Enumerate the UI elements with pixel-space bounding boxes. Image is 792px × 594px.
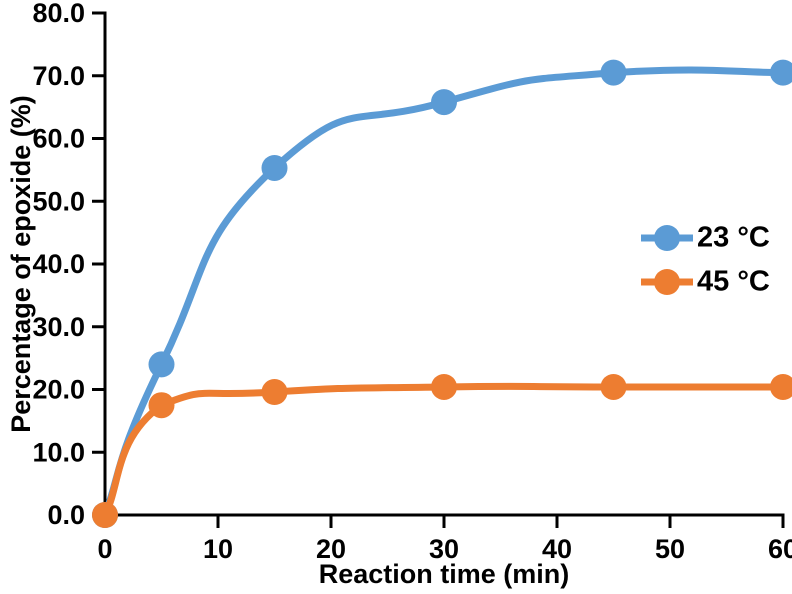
chart-figure: 0.010.020.030.040.050.060.070.080.0 Perc… [0, 0, 792, 594]
y-tick-label: 50.0 [32, 186, 85, 216]
data-point [431, 89, 457, 115]
data-point [149, 392, 175, 418]
y-tick-label: 0.0 [47, 500, 85, 530]
y-tick-label: 10.0 [32, 437, 85, 467]
y-tick-label: 40.0 [32, 249, 85, 279]
data-point [431, 374, 457, 400]
legend-label: 45 °C [697, 266, 770, 298]
legend-label: 23 °C [697, 222, 770, 254]
x-axis-title: Reaction time (min) [319, 559, 570, 589]
legend-marker [654, 225, 680, 251]
data-point [262, 155, 288, 181]
x-tick-label: 0 [97, 534, 112, 564]
y-tick-label: 60.0 [32, 124, 85, 154]
data-point [92, 502, 118, 528]
legend-marker [654, 269, 680, 295]
data-point [262, 379, 288, 405]
chart-canvas: 0.010.020.030.040.050.060.070.080.0 Perc… [0, 0, 792, 594]
data-point [149, 351, 175, 377]
y-tick-label: 70.0 [32, 61, 85, 91]
x-tick-label: 10 [203, 534, 233, 564]
x-tick-label: 50 [655, 534, 685, 564]
y-axis-title: Percentage of epoxide (%) [6, 95, 36, 433]
x-tick-label: 60 [768, 534, 792, 564]
y-tick-label: 20.0 [32, 375, 85, 405]
y-tick-labels: 0.010.020.030.040.050.060.070.080.0 [32, 0, 85, 530]
y-tick-label: 80.0 [32, 0, 85, 28]
y-tick-label: 30.0 [32, 312, 85, 342]
chart-background [0, 0, 792, 594]
data-point [601, 60, 627, 86]
data-point [601, 374, 627, 400]
